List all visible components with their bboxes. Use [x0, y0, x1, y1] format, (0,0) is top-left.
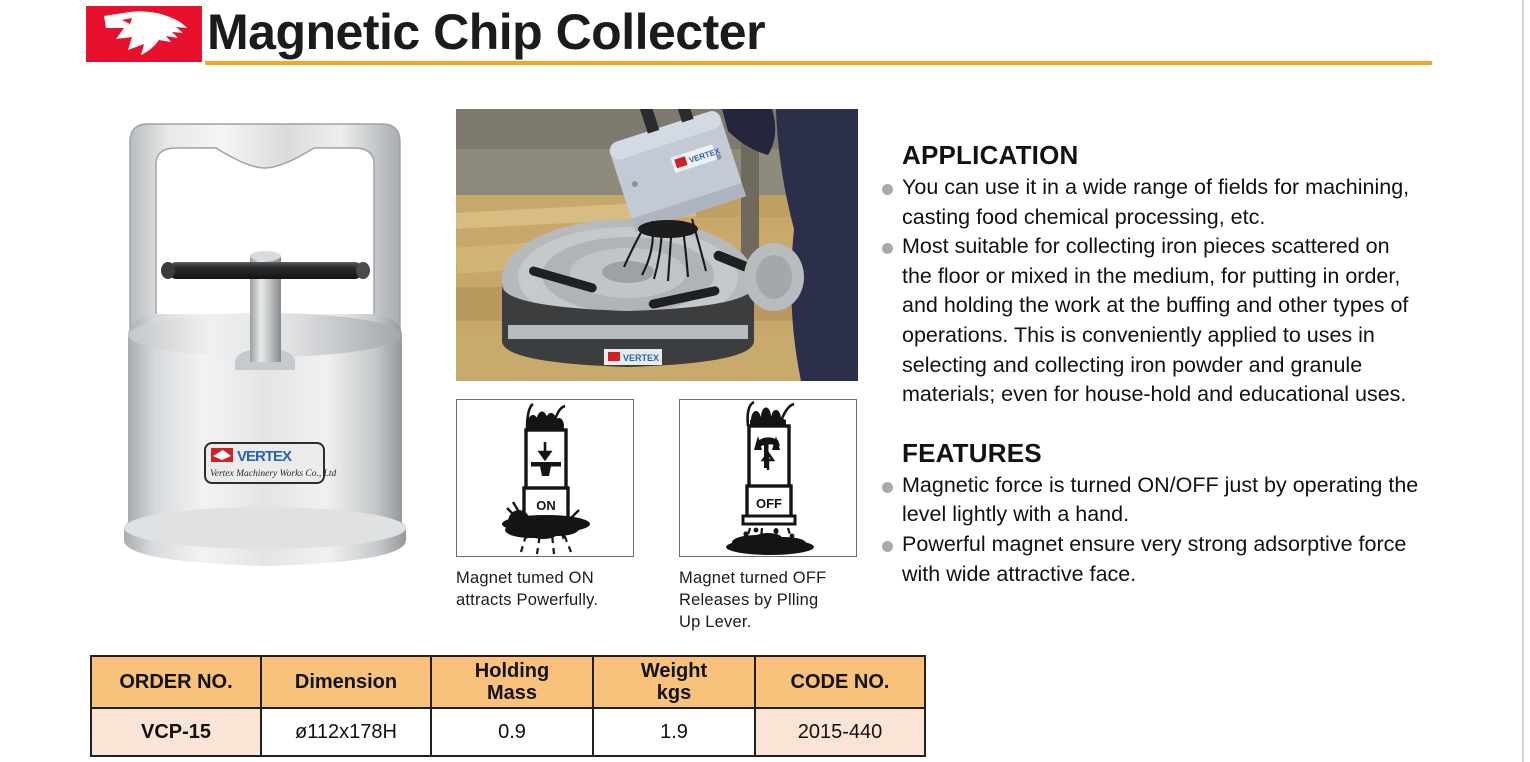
description-column: APPLICATION You can use it in a wide ran… [880, 140, 1425, 589]
svg-text:Vertex Machinery Works Co., Lt: Vertex Machinery Works Co., Ltd [210, 469, 337, 479]
application-bullet-text: Most suitable for collecting iron pieces… [902, 234, 1408, 406]
list-item: Most suitable for collecting iron pieces… [880, 232, 1425, 410]
specification-table: ORDER NO. Dimension Holding Mass Weight … [90, 655, 926, 757]
application-bullet-text: You can use it in a wide range of fields… [902, 175, 1409, 229]
features-bullet-text: Magnetic force is turned ON/OFF just by … [902, 473, 1418, 527]
list-item: Powerful magnet ensure very strong adsor… [880, 530, 1425, 589]
diagram-off-caption-line-2: Releases by Plling [679, 589, 879, 611]
cell-code-no: 2015-440 [755, 708, 925, 756]
table-header-row: ORDER NO. Dimension Holding Mass Weight … [91, 656, 925, 708]
diagram-off-caption: Magnet turned OFF Releases by Plling Up … [679, 567, 879, 633]
diagram-off-caption-line-3: Up Lever. [679, 611, 879, 633]
diagram-on-caption-line-2: attracts Powerfully. [456, 589, 656, 611]
bullet-dot-icon [882, 541, 893, 552]
column-header-holding-mass: Holding Mass [431, 656, 593, 708]
svg-text:VERTEX: VERTEX [237, 448, 292, 465]
diagram-off-state-label: OFF [756, 496, 782, 511]
bullet-dot-icon [882, 184, 893, 195]
table-row: VCP-15 ø112x178H 0.9 1.9 2015-440 [91, 708, 925, 756]
cell-holding-mass: 0.9 [431, 708, 593, 756]
application-photo: VERTEX VERTEX [456, 109, 858, 381]
column-header-dimension: Dimension [261, 656, 431, 708]
diagram-off-caption-line-1: Magnet turned OFF [679, 567, 879, 589]
diagram-on-caption: Magnet tumed ON attracts Powerfully. [456, 567, 656, 611]
product-photo: VERTEX Vertex Machinery Works Co., Ltd [104, 104, 426, 592]
application-bullet-list: You can use it in a wide range of fields… [880, 173, 1425, 410]
cell-order-no: VCP-15 [91, 708, 261, 756]
column-header-order-no: ORDER NO. [91, 656, 261, 708]
diagram-on-caption-line-1: Magnet tumed ON [456, 567, 656, 589]
list-item: Magnetic force is turned ON/OFF just by … [880, 471, 1425, 530]
page-header: Magnetic Chip Collecter [0, 0, 1530, 78]
eagle-head-icon [86, 6, 202, 62]
features-heading: FEATURES [902, 438, 1425, 469]
bullet-dot-icon [882, 482, 893, 493]
features-bullet-text: Powerful magnet ensure very strong adsor… [902, 532, 1406, 586]
diagram-magnet-on: ON [456, 399, 634, 557]
product-datasheet-page: Magnetic Chip Collecter [0, 0, 1530, 762]
title-underline-rule [205, 61, 1432, 65]
cell-weight: 1.9 [593, 708, 755, 756]
page-title: Magnetic Chip Collecter [207, 2, 765, 62]
diagram-magnet-off: OFF [679, 399, 857, 557]
column-header-weight: Weight kgs [593, 656, 755, 708]
page-right-border [1522, 0, 1524, 762]
product-brand-label: VERTEX Vertex Machinery Works Co., Ltd [205, 443, 337, 483]
features-bullet-list: Magnetic force is turned ON/OFF just by … [880, 471, 1425, 589]
svg-text:VERTEX: VERTEX [623, 353, 659, 363]
cell-dimension: ø112x178H [261, 708, 431, 756]
list-item: You can use it in a wide range of fields… [880, 173, 1425, 232]
application-heading: APPLICATION [902, 140, 1425, 171]
column-header-code-no: CODE NO. [755, 656, 925, 708]
diagram-on-state-label: ON [536, 498, 556, 513]
bullet-dot-icon [882, 243, 893, 254]
